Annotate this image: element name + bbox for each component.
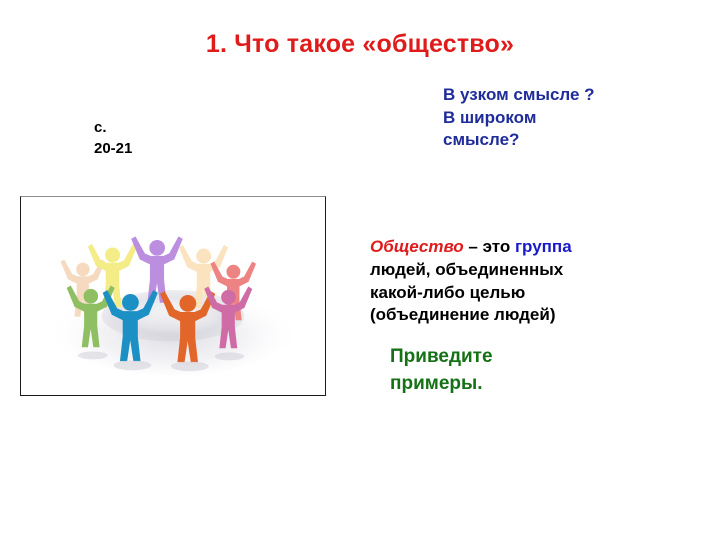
page-reference: с. 20-21 (94, 117, 132, 160)
slide-canvas: 1. Что такое «общество» с. 20-21 В узком… (0, 0, 720, 540)
prompt-line-2: примеры. (390, 371, 620, 398)
page-reference-pages: 20-21 (94, 138, 132, 159)
photo-paper-people-circle (20, 196, 326, 396)
paper-people-illustration (21, 197, 325, 395)
prompt-text: Приведите примеры. (390, 344, 620, 398)
question-line-2: В широком (443, 107, 673, 130)
definition-copula: – это (464, 237, 515, 256)
page-title: 1. Что такое «общество» (0, 30, 720, 59)
definition-line-2: людей, объединенных (370, 259, 670, 282)
prompt-line-1: Приведите (390, 344, 620, 371)
definition-keyword: группа (515, 237, 572, 256)
definition-term: Общество (370, 237, 464, 256)
definition-line-3: какой-либо целью (370, 282, 670, 305)
question-block: В узком смысле ? В широком смысле? (443, 84, 673, 152)
page-reference-label: с. (94, 117, 132, 138)
question-line-1: В узком смысле ? (443, 84, 673, 107)
definition-line-1: Общество – это группа (370, 236, 670, 259)
question-line-3: смысле? (443, 129, 673, 152)
definition-text: Общество – это группа людей, объединенны… (370, 236, 670, 327)
definition-line-4: (объединение людей) (370, 304, 670, 327)
